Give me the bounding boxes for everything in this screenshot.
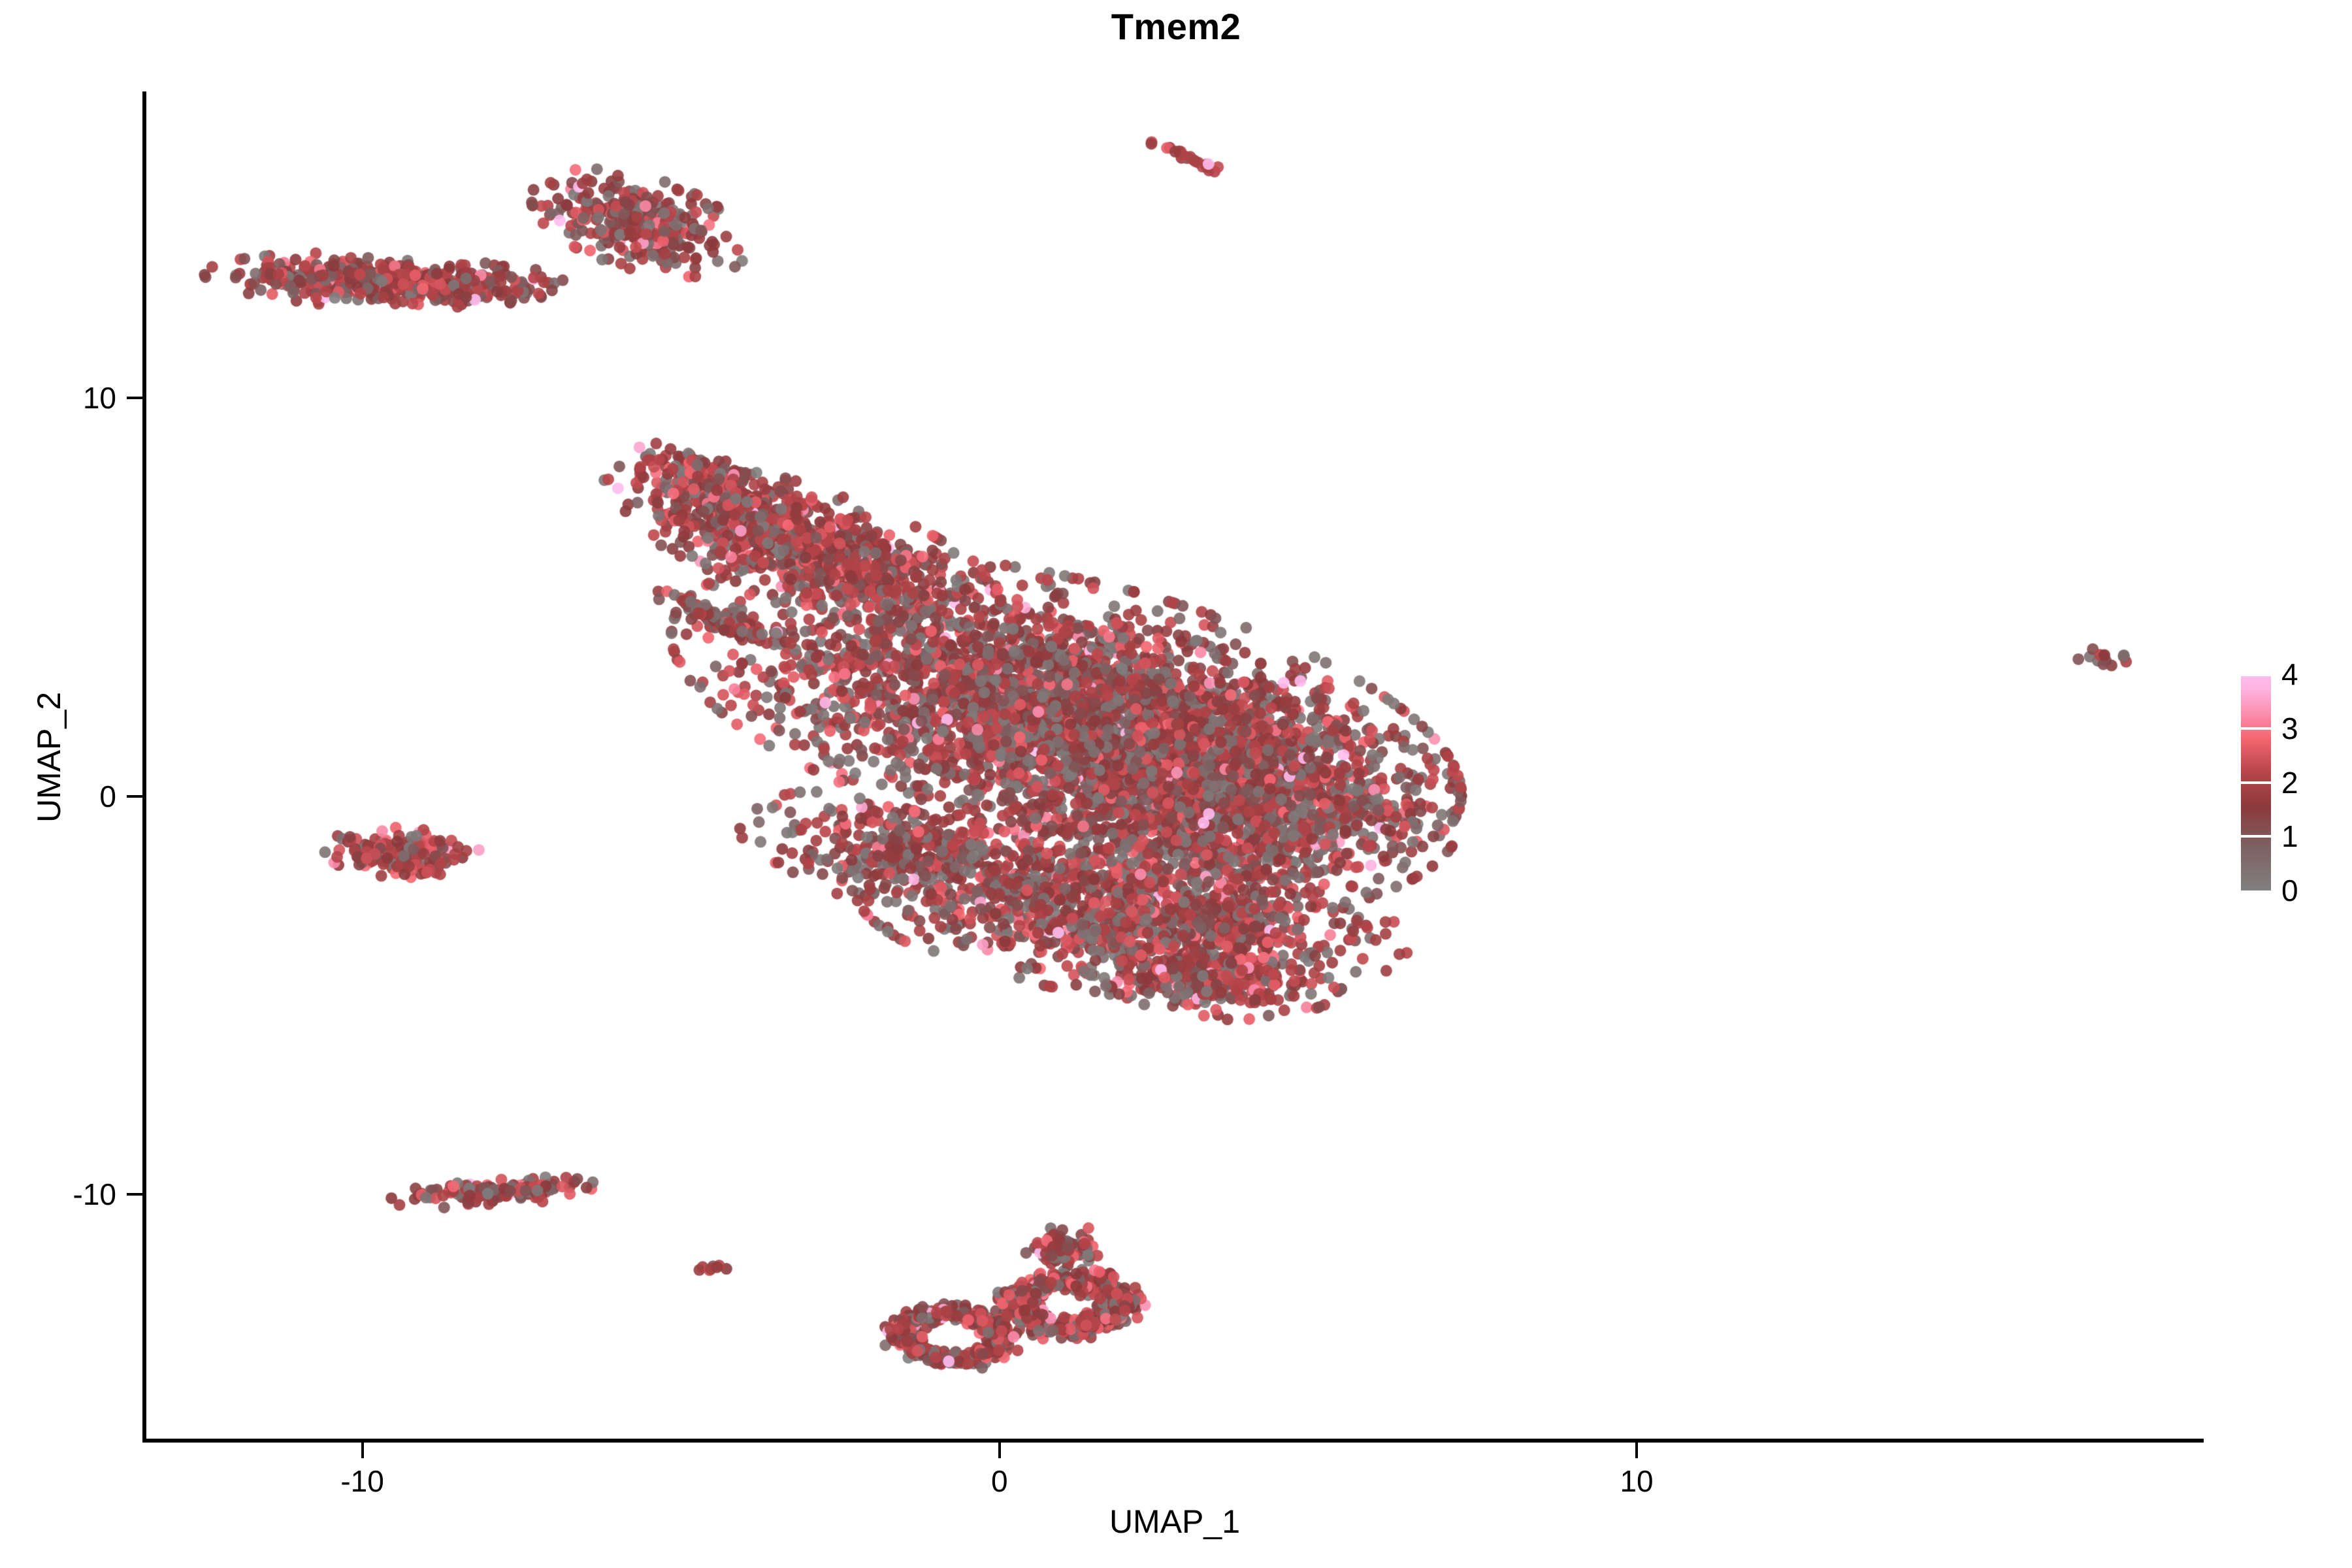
x-axis-title: UMAP_1 [146,1503,2204,1541]
x-axis-line [142,1439,2204,1443]
color-legend: 43210 [2241,666,2345,902]
legend-tick-mark [2241,781,2271,784]
legend-tick-mark [2241,835,2271,838]
legend-label: 4 [2281,657,2298,692]
scatter-plot-panel [146,91,2204,1441]
y-tick-mark [127,1193,142,1196]
x-tick-label: -10 [340,1463,384,1499]
feature-plot: Tmem2 -10010 100-10 UMAP_1 UMAP_2 43210 [0,0,2352,1568]
y-axis-line [142,91,146,1443]
x-tick-mark [361,1443,364,1458]
umap-scatter-canvas [146,91,2204,1441]
x-tick-label: 0 [991,1463,1008,1499]
x-tick-mark [998,1443,1001,1458]
x-tick-mark [1635,1443,1638,1458]
y-tick-mark [127,795,142,798]
x-tick-label: 10 [1620,1463,1653,1499]
page-title: Tmem2 [0,7,2352,47]
y-tick-mark [127,397,142,399]
legend-label: 2 [2281,765,2298,800]
legend-tick-mark [2241,674,2271,676]
legend-tick-mark [2241,727,2271,730]
legend-label: 0 [2281,873,2298,908]
legend-label: 1 [2281,819,2298,854]
y-axis-title: UMAP_2 [30,398,68,1117]
y-tick-label: -10 [0,1177,116,1212]
legend-label: 3 [2281,711,2298,746]
